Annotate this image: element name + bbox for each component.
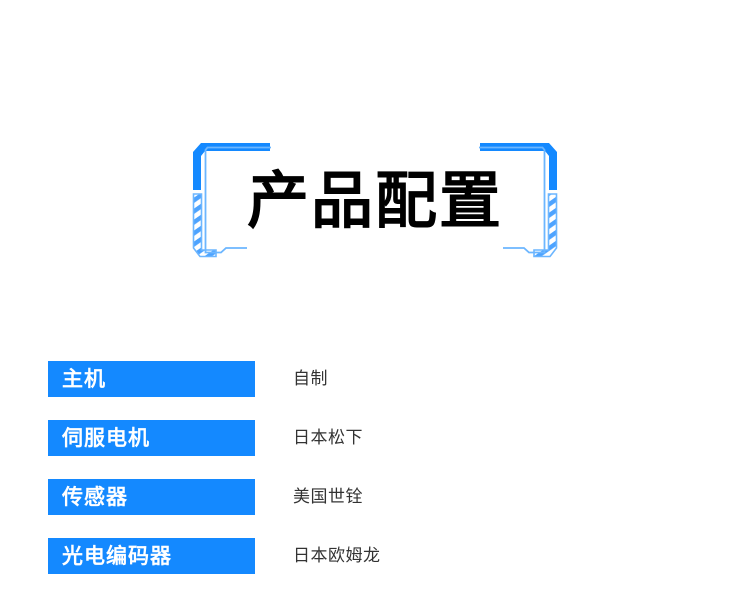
spec-value-host: 自制 — [293, 361, 328, 397]
spec-label-sensor: 传感器 — [48, 479, 255, 515]
spec-value-photoelectric-encoder: 日本欧姆龙 — [293, 538, 381, 574]
spec-value-servo-motor: 日本松下 — [293, 420, 363, 456]
spec-label-host: 主机 — [48, 361, 255, 397]
spec-value-sensor: 美国世铨 — [293, 479, 363, 515]
page-title: 产品配置 — [185, 138, 565, 263]
spec-row: 光电编码器 日本欧姆龙 — [48, 538, 708, 574]
spec-label-photoelectric-encoder: 光电编码器 — [48, 538, 255, 574]
spec-list: 主机 自制 伺服电机 日本松下 传感器 美国世铨 光电编码器 日本欧姆龙 — [48, 361, 708, 597]
page-title-block: 产品配置 — [185, 138, 565, 263]
spec-label-servo-motor: 伺服电机 — [48, 420, 255, 456]
spec-row: 主机 自制 — [48, 361, 708, 397]
spec-row: 传感器 美国世铨 — [48, 479, 708, 515]
spec-row: 伺服电机 日本松下 — [48, 420, 708, 456]
